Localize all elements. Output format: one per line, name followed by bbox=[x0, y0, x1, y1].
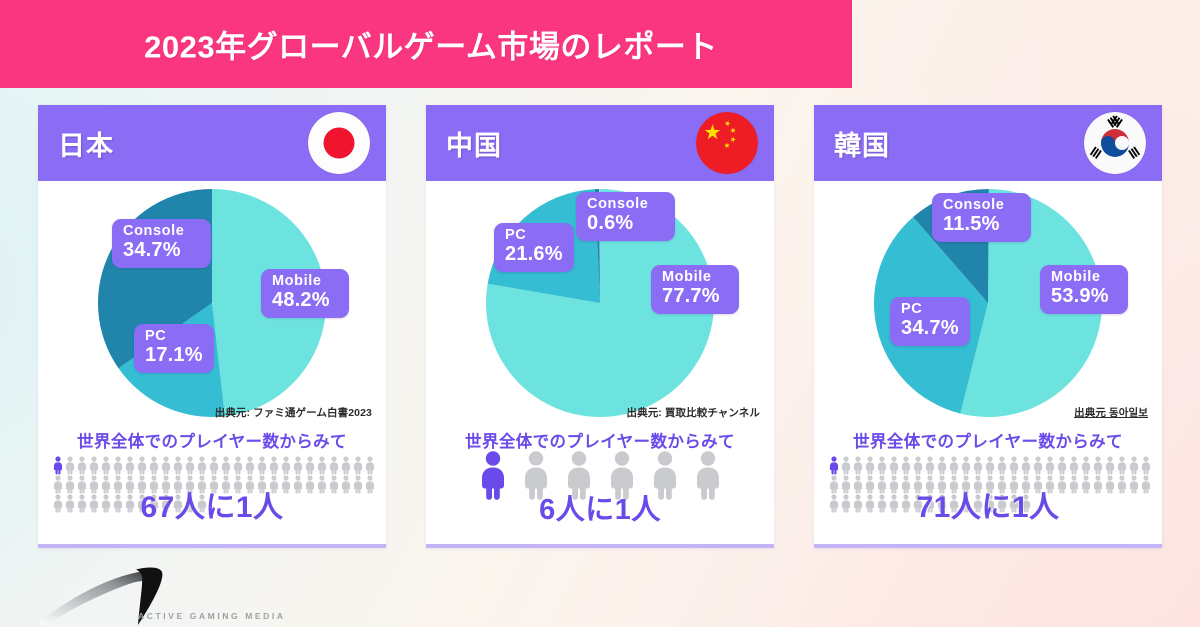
card-header: 韓国 bbox=[814, 105, 1162, 181]
person-icon bbox=[220, 456, 232, 475]
person-icon bbox=[292, 456, 304, 475]
person-icon bbox=[912, 456, 924, 475]
person-icon bbox=[1104, 456, 1116, 475]
card-header: 日本 bbox=[38, 105, 386, 181]
person-icon bbox=[280, 456, 292, 475]
pie-label-category: Mobile bbox=[272, 274, 338, 289]
pie-label-value: 34.7% bbox=[901, 318, 959, 339]
pie-label-value: 48.2% bbox=[272, 290, 338, 311]
person-icon bbox=[1068, 456, 1080, 475]
country-name: 中国 bbox=[446, 124, 502, 163]
person-icon bbox=[328, 456, 340, 475]
pie-label-value: 11.5% bbox=[943, 214, 1020, 235]
person-icon bbox=[76, 456, 88, 475]
person-icon bbox=[148, 456, 160, 475]
pie-label-value: 53.9% bbox=[1051, 286, 1117, 307]
person-icon bbox=[900, 456, 912, 475]
person-icon bbox=[88, 456, 100, 475]
country-card: 中国Mobile77.7%PC21.6%Console0.6%出典元: 買取比較… bbox=[426, 105, 774, 548]
chart-source: 出典元: 買取比較チャンネル bbox=[627, 405, 761, 420]
person-icon bbox=[256, 456, 268, 475]
person-icon bbox=[1092, 456, 1104, 475]
pie-chart: Mobile77.7%PC21.6%Console0.6% bbox=[484, 187, 716, 419]
person-icon bbox=[64, 456, 76, 475]
south-korea-flag-icon bbox=[1084, 112, 1146, 174]
player-ratio-block: 世界全体でのプレイヤー数からみて67人に1人 bbox=[38, 426, 386, 544]
person-icon bbox=[888, 456, 900, 475]
pie-label-category: Console bbox=[587, 197, 664, 212]
person-icon bbox=[112, 456, 124, 475]
person-icon bbox=[268, 456, 280, 475]
pie-chart: Mobile53.9%PC34.7%Console11.5% bbox=[872, 187, 1104, 419]
pie-label-mobile: Mobile77.7% bbox=[651, 265, 739, 314]
brand-logo: ACTIVE GAMING MEDIA bbox=[38, 555, 288, 627]
person-icon bbox=[1008, 456, 1020, 475]
person-icon bbox=[1020, 456, 1032, 475]
player-ratio-block: 世界全体でのプレイヤー数からみて6人に1人 bbox=[426, 426, 774, 544]
person-icon bbox=[1080, 456, 1092, 475]
person-icon bbox=[876, 456, 888, 475]
person-icon bbox=[196, 456, 208, 475]
pie-label-mobile: Mobile48.2% bbox=[261, 269, 349, 318]
person-icon bbox=[364, 456, 376, 475]
pie-label-value: 34.7% bbox=[123, 240, 200, 261]
china-flag-icon bbox=[696, 112, 758, 174]
person-icon bbox=[1128, 456, 1140, 475]
ratio-caption: 世界全体でのプレイヤー数からみて bbox=[814, 428, 1162, 452]
person-icon bbox=[184, 456, 196, 475]
person-icon bbox=[828, 456, 840, 475]
person-icon bbox=[1116, 456, 1128, 475]
person-icon bbox=[960, 456, 972, 475]
pie-label-category: PC bbox=[505, 228, 563, 243]
ratio-value: 71人に1人 bbox=[814, 482, 1162, 526]
person-icon bbox=[984, 456, 996, 475]
person-icon bbox=[1032, 456, 1044, 475]
pie-label-console: Console11.5% bbox=[932, 193, 1031, 242]
japan-flag-icon bbox=[308, 112, 370, 174]
player-ratio-block: 世界全体でのプレイヤー数からみて71人に1人 bbox=[814, 426, 1162, 544]
person-icon bbox=[352, 456, 364, 475]
pie-label-value: 21.6% bbox=[505, 244, 563, 265]
person-icon bbox=[852, 456, 864, 475]
ratio-value: 67人に1人 bbox=[38, 482, 386, 526]
person-icon bbox=[948, 456, 960, 475]
person-icon bbox=[208, 456, 220, 475]
person-icon bbox=[840, 456, 852, 475]
pie-label-category: Console bbox=[943, 198, 1020, 213]
page-title: 2023年グローバルゲーム市場のレポート bbox=[0, 22, 852, 67]
logo-wordmark: ACTIVE GAMING MEDIA bbox=[138, 611, 286, 621]
country-name: 日本 bbox=[58, 124, 114, 163]
person-icon bbox=[340, 456, 352, 475]
pie-label-pc: PC34.7% bbox=[890, 297, 970, 346]
ratio-value: 6人に1人 bbox=[426, 486, 774, 528]
pie-label-category: Console bbox=[123, 224, 200, 239]
card-header: 中国 bbox=[426, 105, 774, 181]
infographic-canvas: 2023年グローバルゲーム市場のレポート 日本Mobile48.2%PC17.1… bbox=[0, 0, 1200, 627]
person-icon bbox=[864, 456, 876, 475]
pie-chart-area: Mobile53.9%PC34.7%Console11.5%出典元 동아일보 bbox=[814, 181, 1162, 426]
pie-label-value: 77.7% bbox=[662, 286, 728, 307]
person-icon bbox=[124, 456, 136, 475]
pie-label-pc: PC21.6% bbox=[494, 223, 574, 272]
title-banner: 2023年グローバルゲーム市場のレポート bbox=[0, 0, 852, 88]
pie-label-console: Console0.6% bbox=[576, 192, 675, 241]
person-icon bbox=[996, 456, 1008, 475]
person-icon bbox=[1056, 456, 1068, 475]
person-icon bbox=[52, 456, 64, 475]
ratio-caption: 世界全体でのプレイヤー数からみて bbox=[426, 428, 774, 452]
chart-source[interactable]: 出典元 동아일보 bbox=[1074, 405, 1148, 420]
country-card: 韓国Mobile53.9%PC34.7%Console11.5%出典元 동아일보… bbox=[814, 105, 1162, 548]
chart-source-link[interactable]: 出典元 동아일보 bbox=[1074, 407, 1148, 419]
country-name: 韓国 bbox=[834, 124, 890, 163]
country-card-list: 日本Mobile48.2%PC17.1%Console34.7%出典元: ファミ… bbox=[0, 105, 1200, 548]
person-icon bbox=[316, 456, 328, 475]
person-icon bbox=[172, 456, 184, 475]
pie-label-pc: PC17.1% bbox=[134, 324, 214, 373]
person-icon bbox=[972, 456, 984, 475]
person-icon bbox=[136, 456, 148, 475]
pie-label-value: 0.6% bbox=[587, 213, 664, 234]
pie-chart: Mobile48.2%PC17.1%Console34.7% bbox=[96, 187, 328, 419]
pie-label-category: PC bbox=[901, 302, 959, 317]
pie-label-category: PC bbox=[145, 329, 203, 344]
chart-source: 出典元: ファミ通ゲーム白書2023 bbox=[215, 405, 372, 420]
person-icon bbox=[924, 456, 936, 475]
ratio-caption: 世界全体でのプレイヤー数からみて bbox=[38, 428, 386, 452]
person-icon bbox=[304, 456, 316, 475]
pie-chart-area: Mobile48.2%PC17.1%Console34.7%出典元: ファミ通ゲ… bbox=[38, 181, 386, 426]
person-icon bbox=[244, 456, 256, 475]
pie-label-category: Mobile bbox=[662, 270, 728, 285]
pie-label-console: Console34.7% bbox=[112, 219, 211, 268]
person-icon bbox=[1140, 456, 1152, 475]
person-icon bbox=[1044, 456, 1056, 475]
pie-chart-area: Mobile77.7%PC21.6%Console0.6%出典元: 買取比較チャ… bbox=[426, 181, 774, 426]
country-card: 日本Mobile48.2%PC17.1%Console34.7%出典元: ファミ… bbox=[38, 105, 386, 548]
pie-label-mobile: Mobile53.9% bbox=[1040, 265, 1128, 314]
person-icon bbox=[160, 456, 172, 475]
pie-label-category: Mobile bbox=[1051, 270, 1117, 285]
person-icon bbox=[936, 456, 948, 475]
person-icon bbox=[232, 456, 244, 475]
pie-label-value: 17.1% bbox=[145, 345, 203, 366]
person-icon bbox=[100, 456, 112, 475]
